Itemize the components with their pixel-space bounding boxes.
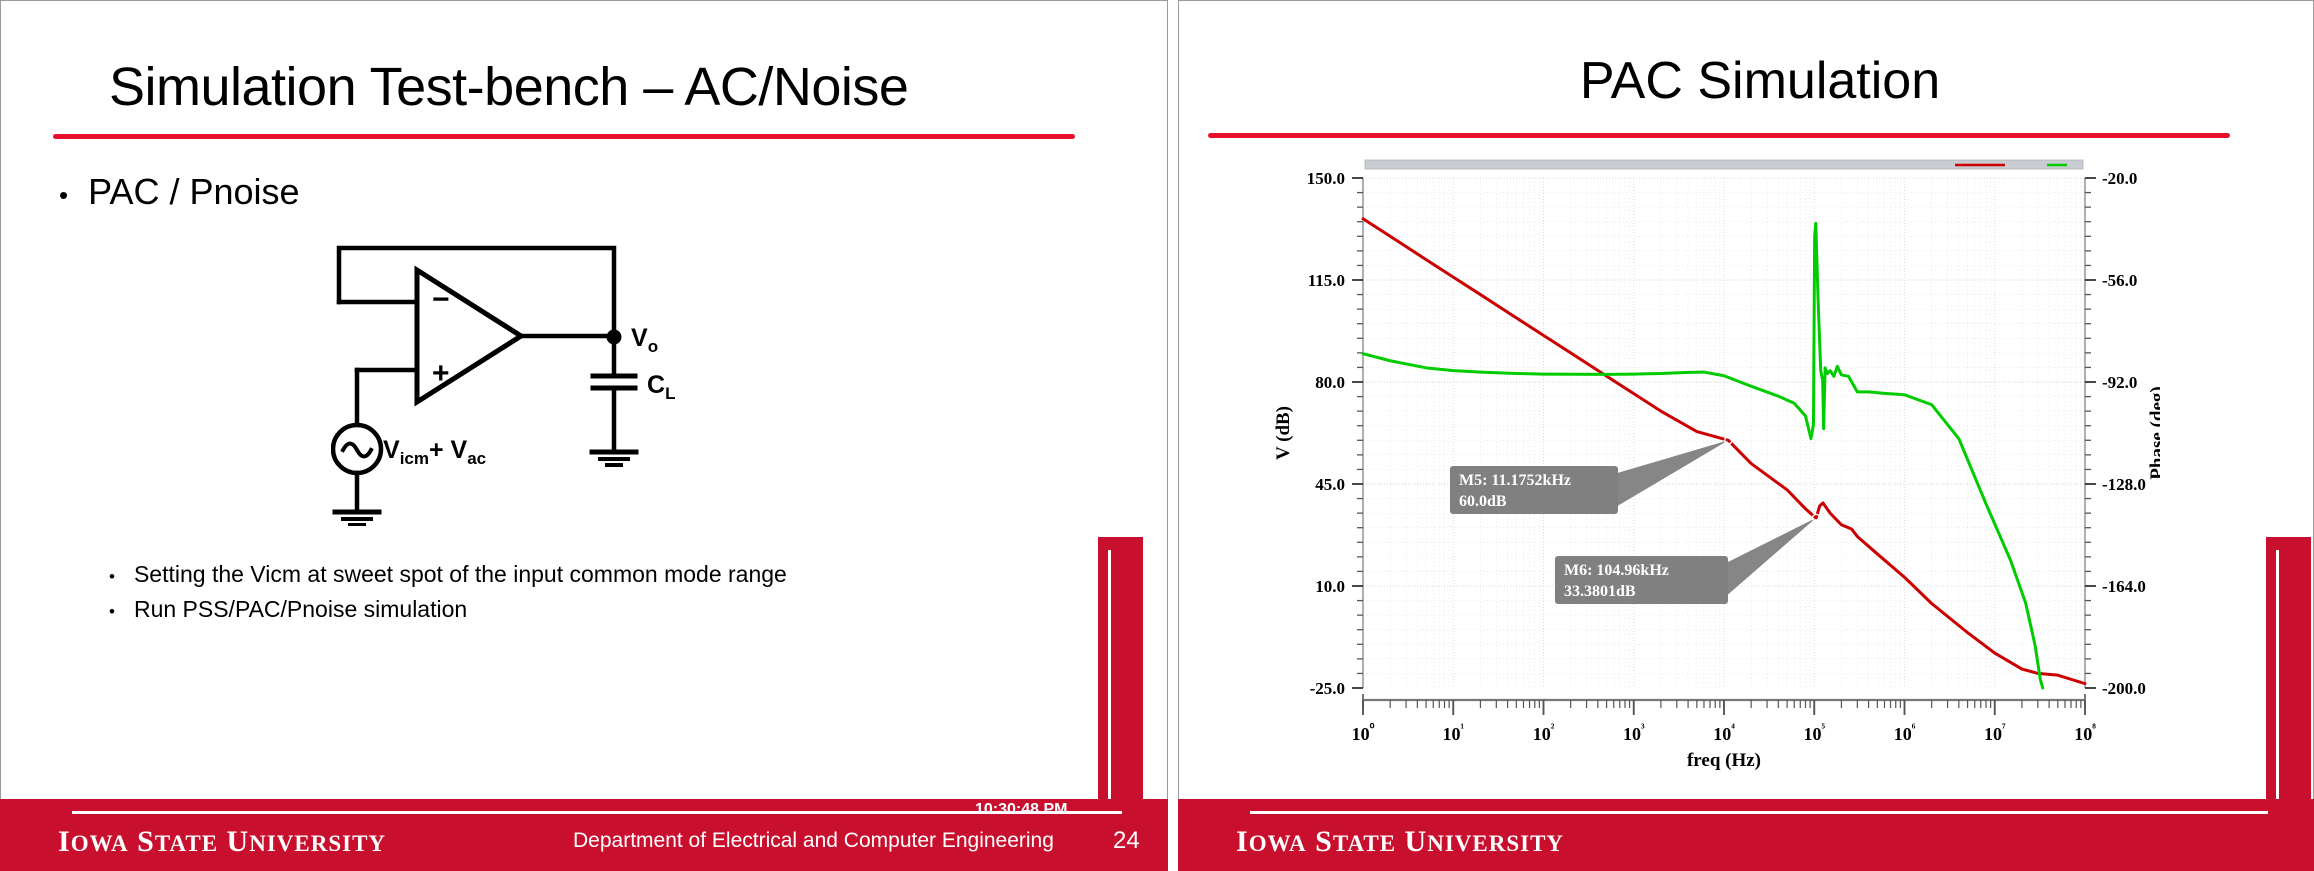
- y2-axis-tick-label: -20.0: [2102, 169, 2137, 188]
- page-number-left: 24: [1113, 827, 1140, 855]
- opamp-plus-terminal-label: +: [432, 357, 450, 390]
- screenshot-root: Simulation Test-bench – AC/Noise • PAC /…: [0, 0, 2314, 871]
- department-text-left: Department of Electrical and Computer En…: [573, 829, 1054, 853]
- chart-svg: 150.0115.080.045.010.0-25.0-20.0-56.0-92…: [1255, 148, 2160, 788]
- x-axis-tick-label: 10³: [1623, 721, 1645, 744]
- y2-axis-tick-label: -200.0: [2102, 679, 2146, 698]
- y-axis-title: V (dB): [1273, 406, 1294, 460]
- list-item-label: Setting the Vicm at sweet spot of the in…: [134, 561, 787, 588]
- logo-niversity: NIVERSITY: [249, 831, 386, 856]
- load-cap-label: CL: [647, 371, 675, 403]
- sub-bullet-list: • Setting the Vicm at sweet spot of the …: [109, 561, 787, 631]
- y2-axis-tick-label: -164.0: [2102, 577, 2146, 596]
- y-axis-tick-label: 115.0: [1308, 271, 1345, 290]
- circuit-svg: − + Vo CL Vicm+ Vac: [331, 236, 751, 526]
- bullet-dot-icon: •: [109, 568, 115, 585]
- page-title-left: Simulation Test-bench – AC/Noise: [109, 56, 908, 118]
- timestamp-left: 10:30:48 PM: [975, 801, 1079, 819]
- chart-legend-strip: [1365, 160, 2083, 169]
- logo-cap-u: U: [227, 825, 250, 858]
- logo-owa: OWA: [71, 831, 129, 856]
- y2-axis-tick-label: -56.0: [2102, 271, 2137, 290]
- opamp-minus-terminal-label: −: [432, 283, 450, 316]
- slide-footer-left: IOWA STATE UNIVERSITY Department of Elec…: [0, 799, 1168, 871]
- x-axis-tick-label: 10⁴: [1713, 721, 1735, 744]
- logo-cap-i: I: [58, 825, 71, 858]
- slide-edge-line-right: [2276, 550, 2279, 815]
- logo-niversity: NIVERSITY: [1427, 831, 1564, 856]
- list-item: • Run PSS/PAC/Pnoise simulation: [109, 596, 787, 623]
- x-axis-title: freq (Hz): [1687, 750, 1761, 771]
- x-axis-tick-label: 10⁶: [1894, 721, 1916, 744]
- x-axis-tick-label: 10⁰: [1352, 721, 1375, 744]
- marker-label-value: 60.0dB: [1459, 493, 1507, 510]
- output-node-dot: [607, 330, 622, 345]
- chart-gridlines: [1363, 178, 2085, 688]
- title-underline-left: [53, 134, 1075, 139]
- marker-label-freq: M6: 104.96kHz: [1564, 562, 1669, 579]
- x-axis-tick-label: 10⁵: [1803, 721, 1825, 744]
- list-item-label: Run PSS/PAC/Pnoise simulation: [134, 596, 467, 623]
- title-underline-right: [1208, 133, 2230, 138]
- y-axis-tick-label: 150.0: [1307, 169, 1345, 188]
- page-title-right: PAC Simulation: [1193, 51, 2314, 111]
- slide-footer-right: IOWA STATE UNIVERSITY Department of Elec…: [1178, 799, 2314, 871]
- isu-logo-left: IOWA STATE UNIVERSITY: [58, 825, 386, 859]
- logo-owa: OWA: [1249, 831, 1307, 856]
- x-axis-tick-label: 10¹: [1442, 721, 1464, 744]
- logo-cap-s: S: [137, 825, 155, 858]
- marker-label-freq: M5: 11.1752kHz: [1459, 472, 1571, 489]
- bullet-pac-pnoise: • PAC / Pnoise: [59, 171, 300, 213]
- y-axis-tick-label: 80.0: [1315, 373, 1345, 392]
- logo-cap-i: I: [1236, 825, 1249, 858]
- bullet-dot-icon: •: [59, 182, 68, 208]
- output-node-label: Vo: [631, 324, 658, 356]
- x-axis-tick-label: 10²: [1533, 721, 1555, 744]
- logo-tate: TATE: [1333, 831, 1396, 856]
- isu-logo-right: IOWA STATE UNIVERSITY: [1236, 825, 1564, 859]
- x-axis-tick-label: 10⁸: [2074, 721, 2096, 744]
- source-label: Vicm+ Vac: [383, 436, 486, 468]
- marker-label-value: 33.3801dB: [1564, 583, 1636, 600]
- y-axis-tick-label: -25.0: [1310, 679, 1345, 698]
- list-item: • Setting the Vicm at sweet spot of the …: [109, 561, 787, 588]
- y2-axis-tick-label: -92.0: [2102, 373, 2137, 392]
- slide-edge-line-left: [1108, 550, 1111, 815]
- footer-divider-left: [72, 811, 1122, 814]
- y-axis-tick-label: 45.0: [1315, 475, 1345, 494]
- y-axis-tick-label: 10.0: [1315, 577, 1345, 596]
- slide-edge-tab-right: [2266, 537, 2311, 802]
- bullet-dot-icon: •: [109, 603, 115, 620]
- logo-cap-u: U: [1405, 825, 1428, 858]
- y2-axis-title: Phase (deg): [2147, 386, 2160, 479]
- slide-panel-left[interactable]: Simulation Test-bench – AC/Noise • PAC /…: [0, 0, 1168, 871]
- slide-edge-tab-left: [1098, 537, 1143, 802]
- bullet-pac-pnoise-label: PAC / Pnoise: [88, 171, 299, 213]
- footer-divider-right: [1250, 811, 2268, 814]
- pac-simulation-chart[interactable]: 150.0115.080.045.010.0-25.0-20.0-56.0-92…: [1255, 148, 2160, 788]
- y2-axis-tick-label: -128.0: [2102, 475, 2146, 494]
- logo-tate: TATE: [155, 831, 218, 856]
- opamp-testbench-circuit: − + Vo CL Vicm+ Vac: [331, 236, 751, 526]
- logo-cap-s: S: [1315, 825, 1333, 858]
- x-axis-tick-label: 10⁷: [1984, 721, 2006, 744]
